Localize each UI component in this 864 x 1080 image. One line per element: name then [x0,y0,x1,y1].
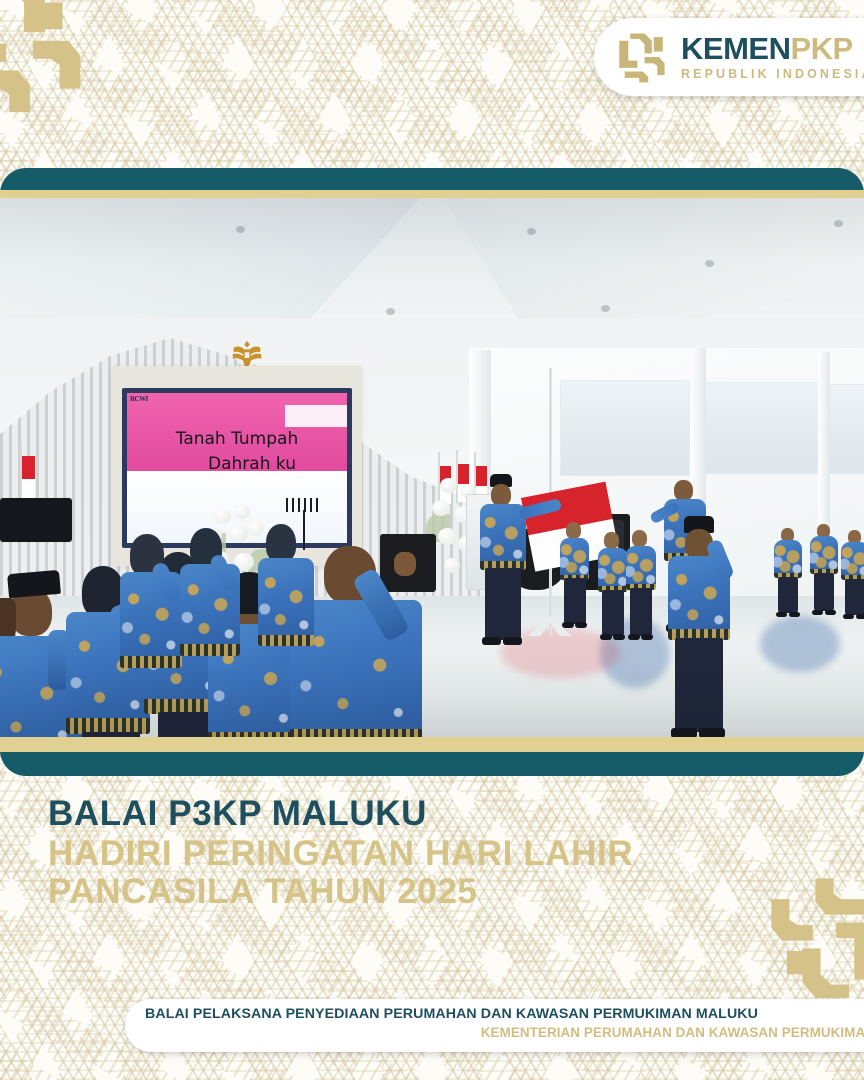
footer-banner: BALAI PELAKSANA PENYEDIAAN PERUMAHAN DAN… [125,999,864,1052]
kemenpkp-house-monogram-icon [612,28,670,86]
headline-line-2: HADIRI PERINGATAN HARI LAHIR [48,836,633,871]
brand-logo-pill: KEMENPKP REPUBLIK INDONESIA [594,18,864,96]
brand-name-primary: KEMEN [681,31,790,66]
kemenpkp-monogram-watermark-icon [752,868,864,1008]
brand-subtitle: REPUBLIK INDONESIA [681,67,864,81]
headline-line-3: PANCASILA TAHUN 2025 [48,874,633,909]
event-photo: RCWI Tanah Tumpah Dahrah ku [0,198,864,737]
headline-line-1: BALAI P3KP MALUKU [48,796,633,831]
poster-canvas: KEMENPKP REPUBLIK INDONESIA [0,0,864,1080]
screen-channel-logo: RCWI [130,395,148,403]
kemenpkp-monogram-watermark-icon [0,0,102,124]
photo-frame-bottom-gold [0,737,864,752]
footer-line-1: BALAI PELAKSANA PENYEDIAAN PERUMAHAN DAN… [145,1006,864,1024]
headline-block: BALAI P3KP MALUKU HADIRI PERINGATAN HARI… [48,796,633,909]
brand-name-secondary: PKP [790,31,852,66]
footer-line-2: KEMENTERIAN PERUMAHAN DAN KAWASAN PERMUK… [145,1024,864,1041]
screen-lyric-line-1: Tanah Tumpah [125,427,349,452]
screen-lyric-line-2: Dahrah ku [125,452,349,477]
